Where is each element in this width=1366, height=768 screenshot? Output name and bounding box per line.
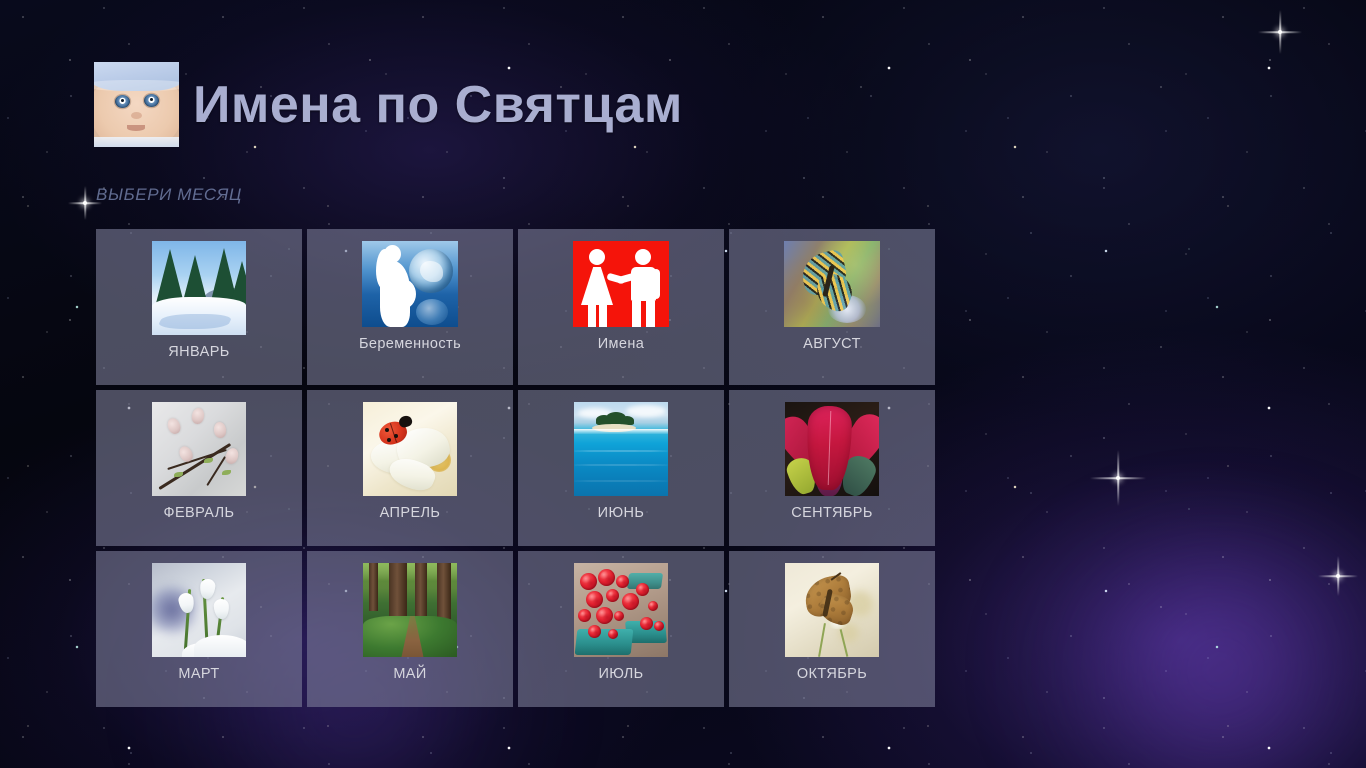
tile-august[interactable]: АВГУСТ [729, 229, 935, 385]
brown-butterfly-thumbnail-icon [785, 563, 879, 657]
tropical-sea-thumbnail-icon [574, 402, 668, 496]
green-forest-thumbnail-icon [363, 563, 457, 657]
baby-eye-left [115, 95, 130, 108]
baby-photo-logo [94, 62, 179, 147]
tile-label-august: АВГУСТ [803, 337, 861, 353]
tile-september[interactable]: СЕНТЯБРЬ [729, 390, 935, 546]
raspberries-thumbnail-icon [574, 563, 668, 657]
page-title: Имена по Святцам [193, 79, 683, 131]
app-root: Имена по Святцам ВЫБЕРИ МЕСЯЦ ЯНВАРЬ Бер… [0, 0, 1366, 768]
month-tile-grid: ЯНВАРЬ Беременность [96, 229, 934, 707]
butterfly-flower-thumbnail-icon [784, 241, 880, 327]
tile-label-june: ИЮНЬ [598, 506, 645, 522]
ladybug-flower-thumbnail-icon [363, 402, 457, 496]
snowy-forest-thumbnail-icon [152, 241, 246, 335]
tile-march[interactable]: МАРТ [96, 551, 302, 707]
tile-label-october: ОКТЯБРЬ [797, 667, 867, 683]
tile-october[interactable]: ОКТЯБРЬ [729, 551, 935, 707]
tile-label-may: МАЙ [393, 667, 426, 683]
tile-label-april: АПРЕЛЬ [380, 506, 441, 522]
tile-pregnancy[interactable]: Беременность [307, 229, 513, 385]
red-autumn-leaves-thumbnail-icon [785, 402, 879, 496]
baby-mouth [127, 125, 145, 131]
tile-may[interactable]: МАЙ [307, 551, 513, 707]
tile-april[interactable]: АПРЕЛЬ [307, 390, 513, 546]
tile-label-pregnancy: Беременность [359, 337, 461, 353]
tile-january[interactable]: ЯНВАРЬ [96, 229, 302, 385]
tile-july[interactable]: ИЮЛЬ [518, 551, 724, 707]
baby-eye-right [144, 94, 159, 107]
tile-label-september: СЕНТЯБРЬ [791, 506, 873, 522]
baby-collar [94, 137, 179, 147]
tile-june[interactable]: ИЮНЬ [518, 390, 724, 546]
tile-label-names: Имена [598, 337, 645, 353]
tile-label-march: МАРТ [178, 667, 219, 683]
page-header: Имена по Святцам [94, 62, 683, 147]
tile-february[interactable]: ФЕВРАЛЬ [96, 390, 302, 546]
baby-hat [94, 62, 179, 91]
snowdrops-thumbnail-icon [152, 563, 246, 657]
tile-label-january: ЯНВАРЬ [168, 345, 229, 361]
pussy-willow-thumbnail-icon [152, 402, 246, 496]
tile-label-february: ФЕВРАЛЬ [164, 506, 235, 522]
male-female-pictogram-icon [573, 241, 669, 327]
baby-nose [131, 112, 142, 119]
tile-names[interactable]: Имена [518, 229, 724, 385]
section-subtitle: ВЫБЕРИ МЕСЯЦ [96, 185, 242, 205]
pregnant-woman-thumbnail-icon [362, 241, 458, 327]
tile-label-july: ИЮЛЬ [598, 667, 643, 683]
